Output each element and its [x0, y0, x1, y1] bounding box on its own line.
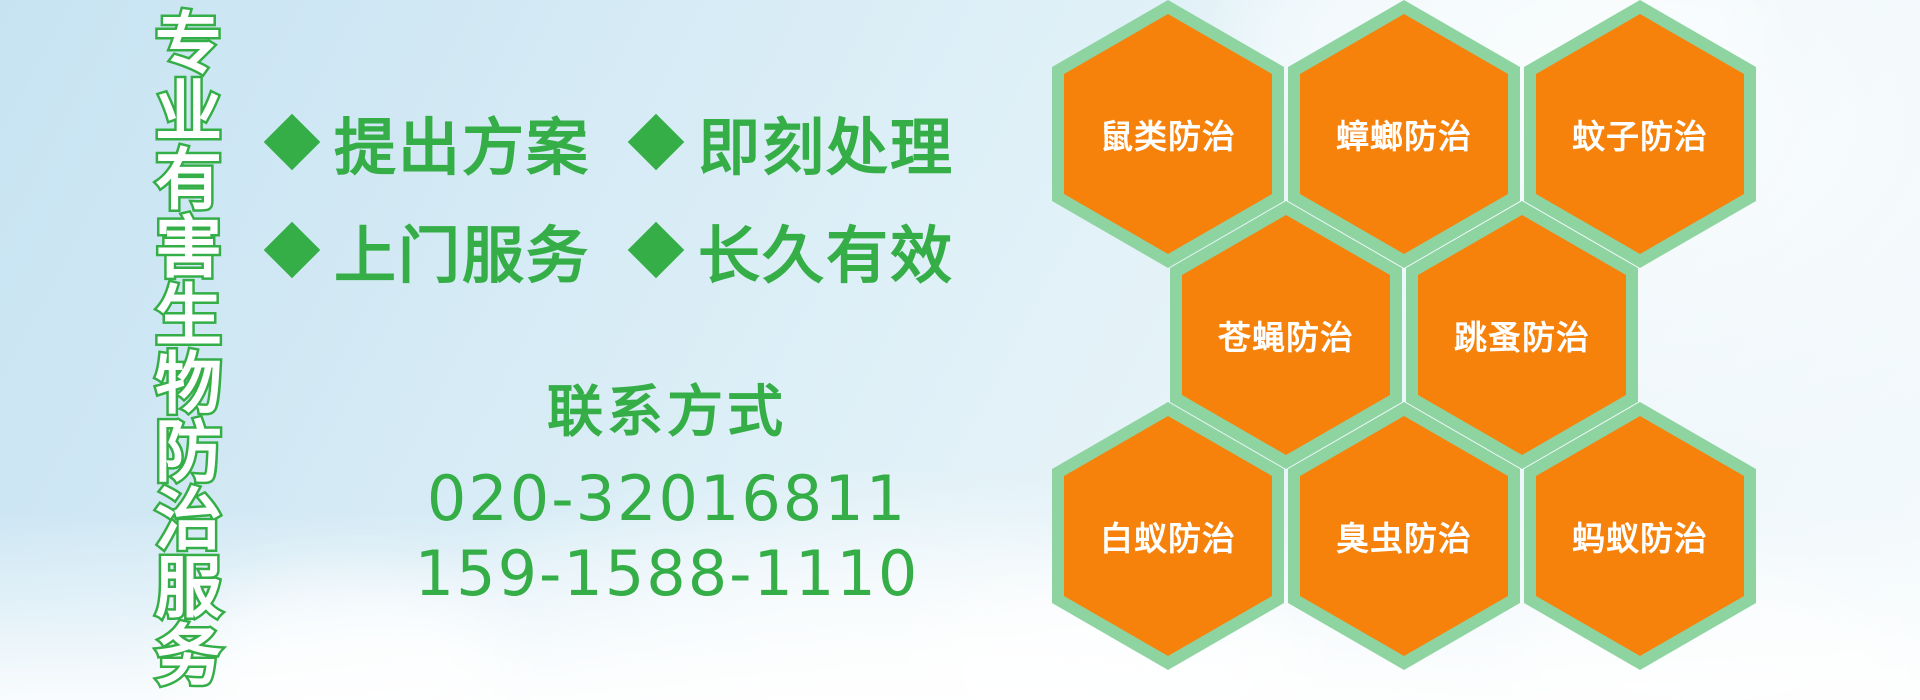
hex-label: 鼠类防治 [1100, 110, 1236, 158]
feature-row: 提出方案 即刻处理 [272, 88, 1062, 196]
feature-item-long-lasting: 长久有效 [636, 205, 954, 295]
hex-inner: 跳蚤防治 [1418, 215, 1626, 455]
feature-list: 提出方案 即刻处理 上门服务 长久有效 [272, 88, 1062, 304]
feature-row: 上门服务 长久有效 [272, 196, 1062, 304]
vertical-headline: 专业有害生物防治服务 [122, 8, 218, 688]
feature-label: 长久有效 [698, 205, 954, 295]
diamond-bullet-icon [264, 222, 321, 279]
hex-label: 苍蝇防治 [1218, 311, 1354, 359]
phone-number-mobile[interactable]: 159-1588-1110 [272, 536, 1062, 612]
feature-item-onsite-service: 上门服务 [272, 205, 590, 295]
banner-stage: 专业有害生物防治服务 提出方案 即刻处理 上门服务 长久有效 联 [0, 0, 1920, 700]
hex-label: 跳蚤防治 [1454, 311, 1590, 359]
feature-label: 即刻处理 [698, 97, 954, 187]
feature-item-propose-plan: 提出方案 [272, 97, 590, 187]
service-honeycomb: 鼠类防治 蟑螂防治 蚊子防治 苍蝇防治 跳蚤防治 白蚁防 [1052, 0, 1920, 700]
contact-block: 联系方式 020-32016811 159-1588-1110 [272, 382, 1062, 612]
hex-inner: 蚂蚁防治 [1536, 416, 1744, 656]
hex-label: 臭虫防治 [1336, 512, 1472, 560]
diamond-bullet-icon [264, 114, 321, 171]
feature-label: 上门服务 [334, 205, 590, 295]
hex-inner: 臭虫防治 [1300, 416, 1508, 656]
contact-title: 联系方式 [272, 382, 1062, 445]
hex-inner: 苍蝇防治 [1182, 215, 1390, 455]
hex-label: 蟑螂防治 [1336, 110, 1472, 158]
hex-label: 蚊子防治 [1572, 110, 1708, 158]
hex-inner: 白蚁防治 [1064, 416, 1272, 656]
feature-item-immediate-handling: 即刻处理 [636, 97, 954, 187]
hex-label: 白蚁防治 [1100, 512, 1236, 560]
hex-inner: 鼠类防治 [1064, 14, 1272, 254]
diamond-bullet-icon [628, 114, 685, 171]
hex-label: 蚂蚁防治 [1572, 512, 1708, 560]
phone-number-landline[interactable]: 020-32016811 [272, 461, 1062, 537]
hex-inner: 蚊子防治 [1536, 14, 1744, 254]
hex-inner: 蟑螂防治 [1300, 14, 1508, 254]
diamond-bullet-icon [628, 222, 685, 279]
feature-label: 提出方案 [334, 97, 590, 187]
